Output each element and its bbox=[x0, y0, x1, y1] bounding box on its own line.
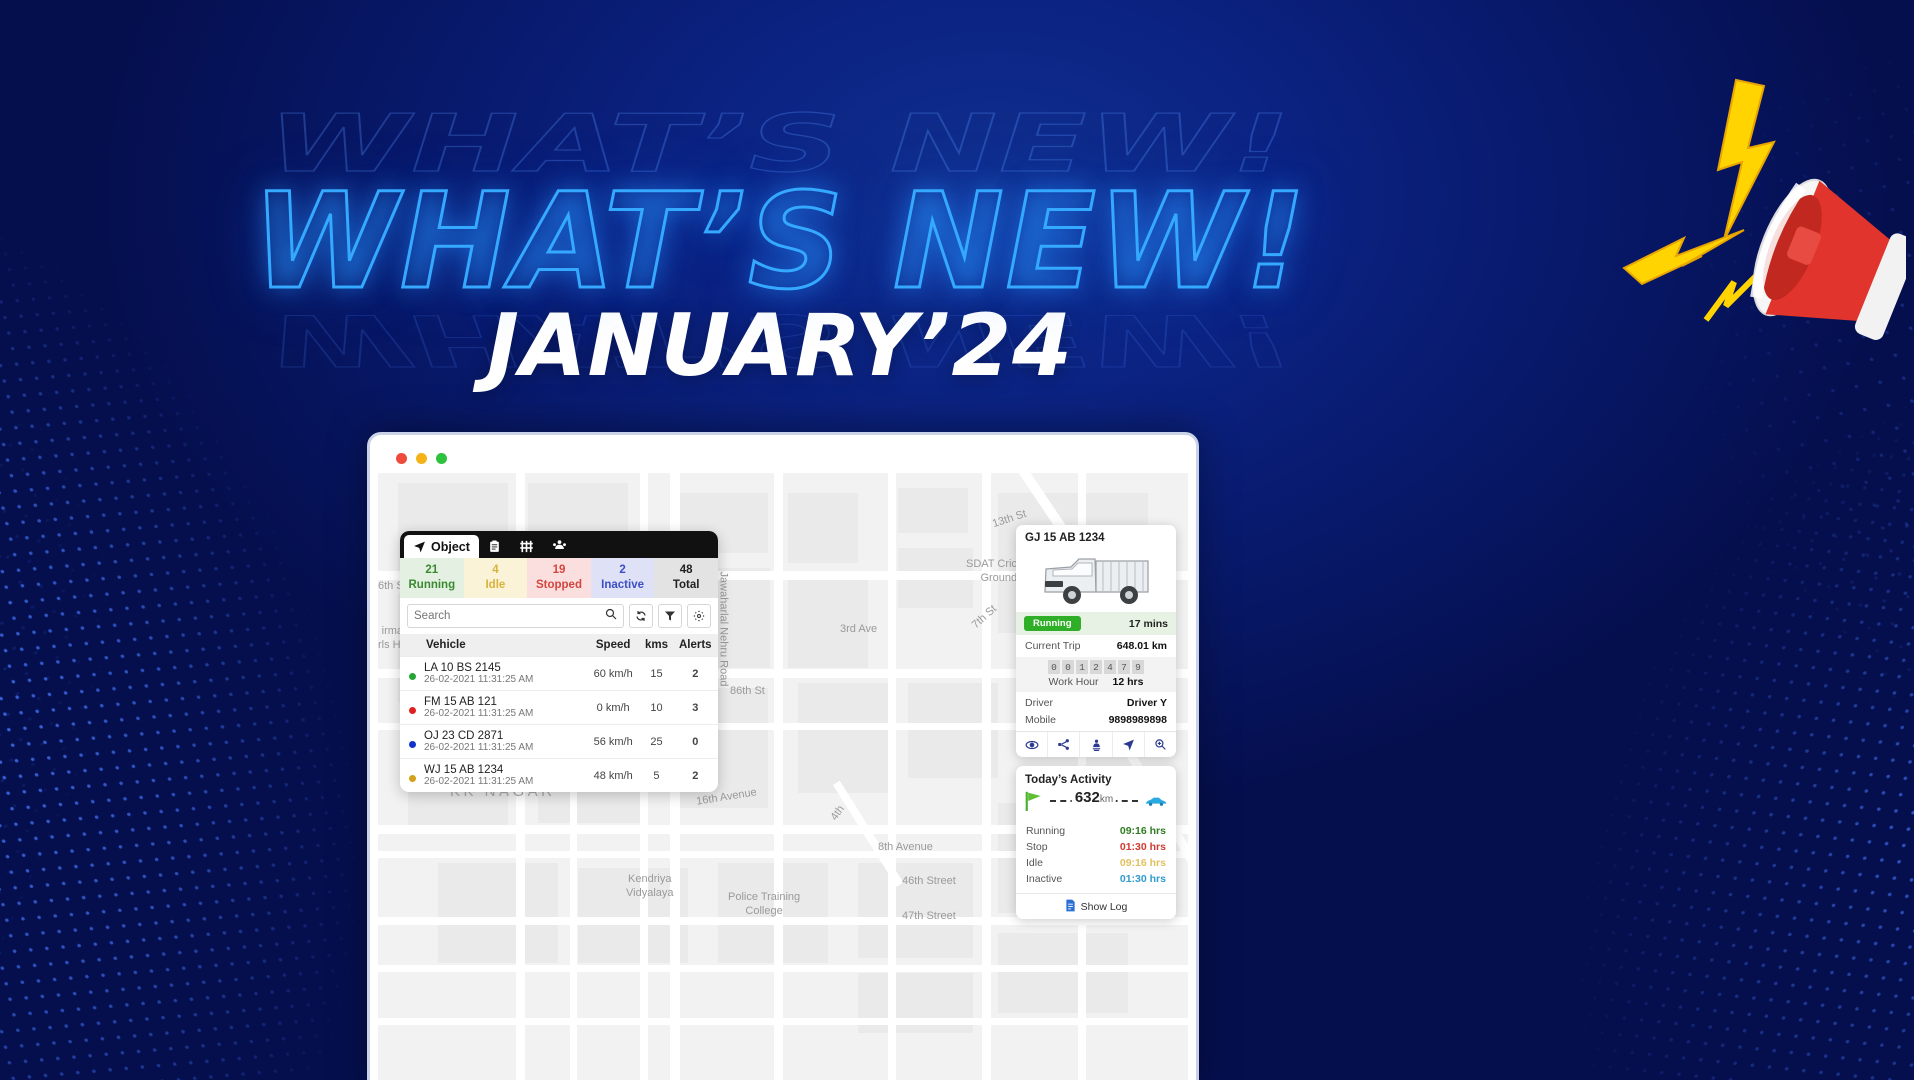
map-label: Police TrainingCollege bbox=[728, 891, 800, 919]
minimize-window-button[interactable] bbox=[416, 453, 427, 464]
todays-activity-card: Today’s Activity 632km bbox=[1016, 766, 1176, 919]
odometer-digit: 7 bbox=[1118, 660, 1130, 674]
clipboard-icon bbox=[488, 539, 501, 554]
tab-geofence[interactable] bbox=[510, 535, 543, 558]
status-label: Running bbox=[408, 579, 455, 591]
zoom-search-icon[interactable] bbox=[1145, 732, 1176, 757]
odometer-digit: 0 bbox=[1062, 660, 1074, 674]
search-box[interactable] bbox=[407, 604, 624, 628]
activity-label: Inactive bbox=[1026, 873, 1062, 885]
vehicle-table-header: VehicleSpeedkmsAlerts bbox=[400, 634, 718, 657]
table-row[interactable]: LA 10 BS 214526-02-2021 11:31:25 AM60 km… bbox=[400, 657, 718, 691]
activity-label: Idle bbox=[1026, 857, 1043, 869]
laptop-frame: 13th StSDAT CricketGround6th Street3rd A… bbox=[367, 432, 1199, 1080]
page-title: WHAT’S NEW! bbox=[0, 176, 1560, 308]
mobile-row: Mobile 9898989898 bbox=[1016, 714, 1176, 731]
vehicle-table-body[interactable]: LA 10 BS 214526-02-2021 11:31:25 AM60 km… bbox=[400, 657, 718, 793]
vehicle-cell: LA 10 BS 214526-02-2021 11:31:25 AM bbox=[400, 657, 586, 691]
navigation-arrow-icon bbox=[413, 540, 426, 553]
settings-gear-icon[interactable] bbox=[687, 604, 711, 628]
status-dot bbox=[409, 707, 416, 714]
status-count: 48 bbox=[654, 563, 718, 578]
status-dot bbox=[409, 741, 416, 748]
status-duration: 17 mins bbox=[1129, 618, 1168, 630]
green-flag-icon bbox=[1024, 790, 1044, 817]
driver-row: Driver Driver Y bbox=[1016, 692, 1176, 714]
vehicle-number: GJ 15 AB 1234 bbox=[1016, 525, 1176, 546]
column-header: Alerts bbox=[673, 634, 718, 657]
kms-cell: 25 bbox=[640, 725, 672, 759]
table-row[interactable]: OJ 23 CD 287126-02-2021 11:31:25 AM56 km… bbox=[400, 725, 718, 759]
people-icon bbox=[552, 539, 567, 554]
alerts-cell: 3 bbox=[673, 691, 718, 725]
vehicle-timestamp: 26-02-2021 11:31:25 AM bbox=[424, 708, 586, 719]
table-row[interactable]: FM 15 AB 12126-02-2021 11:31:25 AM0 km/h… bbox=[400, 691, 718, 725]
status-chip-stopped[interactable]: 19Stopped bbox=[527, 558, 591, 598]
alerts-cell: 2 bbox=[673, 657, 718, 691]
maximize-window-button[interactable] bbox=[436, 453, 447, 464]
truck-photo bbox=[1016, 546, 1176, 612]
status-chip-total[interactable]: 48Total bbox=[654, 558, 718, 598]
vehicle-name: WJ 15 AB 1234 bbox=[424, 764, 586, 776]
show-log-label: Show Log bbox=[1081, 901, 1128, 913]
share-icon[interactable] bbox=[1048, 732, 1080, 757]
activity-row-inactive: Inactive01:30 hrs bbox=[1016, 871, 1176, 887]
activity-label: Running bbox=[1026, 825, 1065, 837]
status-summary-strip[interactable]: 21Running4Idle19Stopped2Inactive48Total bbox=[400, 558, 718, 598]
distance-unit: km bbox=[1100, 794, 1113, 805]
alerts-cell: 2 bbox=[673, 759, 718, 793]
vehicle-summary-card: GJ 15 AB 1234 bbox=[1016, 525, 1176, 757]
map-label: 8th Avenue bbox=[878, 841, 933, 853]
alerts-cell: 0 bbox=[673, 725, 718, 759]
work-hour-row: Work Hour 12 hrs bbox=[1016, 676, 1176, 688]
vehicle-action-row[interactable] bbox=[1016, 731, 1176, 757]
status-dot bbox=[409, 673, 416, 680]
driver-label: Driver bbox=[1025, 697, 1053, 709]
vehicle-detail-panel[interactable]: GJ 15 AB 1234 bbox=[1016, 525, 1176, 928]
activity-value: 01:30 hrs bbox=[1120, 873, 1166, 885]
activity-value: 01:30 hrs bbox=[1120, 841, 1166, 853]
kms-cell: 15 bbox=[640, 657, 672, 691]
show-log-button[interactable]: Show Log bbox=[1016, 893, 1176, 919]
person-pin-icon[interactable] bbox=[1080, 732, 1112, 757]
status-chip-running[interactable]: 21Running bbox=[400, 558, 464, 598]
eye-icon[interactable] bbox=[1016, 732, 1048, 757]
browser-window: 13th StSDAT CricketGround6th Street3rd A… bbox=[378, 443, 1188, 1080]
search-toolbar[interactable] bbox=[400, 598, 718, 634]
speed-cell: 48 km/h bbox=[586, 759, 641, 793]
vehicle-name: OJ 23 CD 2871 bbox=[424, 730, 586, 742]
activity-value: 09:16 hrs bbox=[1120, 857, 1166, 869]
status-count: 2 bbox=[591, 563, 655, 578]
map-canvas[interactable]: 13th StSDAT CricketGround6th Street3rd A… bbox=[378, 473, 1188, 1080]
vehicle-cell: FM 15 AB 12126-02-2021 11:31:25 AM bbox=[400, 691, 586, 725]
tab-drivers[interactable] bbox=[543, 535, 576, 558]
column-header: Speed bbox=[586, 634, 641, 657]
vehicle-name: LA 10 BS 2145 bbox=[424, 662, 586, 674]
megaphone-icon bbox=[1606, 70, 1906, 360]
odometer-digit: 9 bbox=[1132, 660, 1144, 674]
tab-object-label: Object bbox=[431, 540, 470, 554]
current-trip-label: Current Trip bbox=[1025, 640, 1080, 652]
status-count: 4 bbox=[464, 563, 528, 578]
odometer-digit: 4 bbox=[1104, 660, 1116, 674]
search-input[interactable] bbox=[414, 610, 605, 622]
document-icon bbox=[1065, 899, 1076, 915]
odometer-digits: 0012479 bbox=[1016, 660, 1176, 674]
geofence-icon bbox=[519, 539, 534, 554]
tab-object[interactable]: Object bbox=[404, 535, 479, 558]
activity-row-stop: Stop01:30 hrs bbox=[1016, 839, 1176, 855]
poster-canvas: WHAT’S NEW! WHAT’S NEW! WHAT’S NEW! JANU… bbox=[0, 0, 1914, 1080]
status-badge: Running bbox=[1024, 616, 1081, 631]
activity-label: Stop bbox=[1026, 841, 1048, 853]
column-header: Vehicle bbox=[400, 634, 586, 657]
work-hour-label: Work Hour bbox=[1049, 676, 1099, 688]
close-window-button[interactable] bbox=[396, 453, 407, 464]
distance-progress: 632km bbox=[1016, 790, 1176, 823]
vehicle-name: FM 15 AB 121 bbox=[424, 696, 586, 708]
mobile-value: 9898989898 bbox=[1109, 714, 1167, 726]
status-chip-idle[interactable]: 4Idle bbox=[464, 558, 528, 598]
status-count: 21 bbox=[400, 563, 464, 578]
odometer-digit: 1 bbox=[1076, 660, 1088, 674]
status-count: 19 bbox=[527, 563, 591, 578]
map-label: Jawaharlal Nehru Road bbox=[717, 572, 729, 687]
panel-tabbar[interactable]: Object bbox=[400, 531, 718, 558]
map-label: 86th St bbox=[730, 685, 765, 697]
vehicle-timestamp: 26-02-2021 11:31:25 AM bbox=[424, 776, 586, 787]
mobile-label: Mobile bbox=[1025, 714, 1056, 726]
odometer-digit: 2 bbox=[1090, 660, 1102, 674]
current-trip-value: 648.01 km bbox=[1117, 640, 1167, 652]
vehicle-cell: WJ 15 AB 123426-02-2021 11:31:25 AM bbox=[400, 759, 586, 793]
vehicle-timestamp: 26-02-2021 11:31:25 AM bbox=[424, 674, 586, 685]
current-trip-row: Current Trip 648.01 km bbox=[1016, 635, 1176, 657]
status-label: Stopped bbox=[536, 579, 582, 591]
vehicle-timestamp: 26-02-2021 11:31:25 AM bbox=[424, 742, 586, 753]
vehicle-table[interactable]: VehicleSpeedkmsAlerts LA 10 BS 214526-02… bbox=[400, 634, 718, 792]
activity-breakdown: Running09:16 hrsStop01:30 hrsIdle09:16 h… bbox=[1016, 823, 1176, 887]
activity-title: Today’s Activity bbox=[1016, 766, 1176, 790]
status-label: Inactive bbox=[601, 579, 644, 591]
tab-reports[interactable] bbox=[479, 535, 510, 558]
object-list-panel[interactable]: Object bbox=[400, 531, 718, 792]
table-row[interactable]: WJ 15 AB 123426-02-2021 11:31:25 AM48 km… bbox=[400, 759, 718, 793]
map-label: KendriyaVidyalaya bbox=[626, 873, 674, 901]
map-label: 47th Street bbox=[902, 910, 956, 922]
odometer-digit: 0 bbox=[1048, 660, 1060, 674]
status-dot bbox=[409, 775, 416, 782]
status-chip-inactive[interactable]: 2Inactive bbox=[591, 558, 655, 598]
speed-cell: 56 km/h bbox=[586, 725, 641, 759]
map-label: 3rd Ave bbox=[840, 623, 877, 635]
driver-value: Driver Y bbox=[1127, 697, 1167, 709]
refresh-icon[interactable] bbox=[629, 604, 653, 628]
activity-row-idle: Idle09:16 hrs bbox=[1016, 855, 1176, 871]
status-label: Total bbox=[673, 579, 700, 591]
work-hour-value: 12 hrs bbox=[1113, 676, 1144, 688]
window-titlebar bbox=[378, 443, 1188, 473]
speed-cell: 0 km/h bbox=[586, 691, 641, 725]
speed-cell: 60 km/h bbox=[586, 657, 641, 691]
map-label: 4th bbox=[828, 803, 847, 822]
status-label: Idle bbox=[485, 579, 505, 591]
kms-cell: 10 bbox=[640, 691, 672, 725]
blue-car-icon bbox=[1144, 795, 1168, 813]
vehicle-status-row: Running 17 mins bbox=[1016, 612, 1176, 635]
filter-icon[interactable] bbox=[658, 604, 682, 628]
column-header: kms bbox=[640, 634, 672, 657]
activity-row-running: Running09:16 hrs bbox=[1016, 823, 1176, 839]
vehicle-cell: OJ 23 CD 287126-02-2021 11:31:25 AM bbox=[400, 725, 586, 759]
kms-cell: 5 bbox=[640, 759, 672, 793]
search-icon bbox=[605, 607, 617, 625]
odometer-block: 0012479 Work Hour 12 hrs bbox=[1016, 657, 1176, 692]
activity-value: 09:16 hrs bbox=[1120, 825, 1166, 837]
map-label: 46th Street bbox=[902, 875, 956, 887]
navigate-icon[interactable] bbox=[1113, 732, 1145, 757]
distance-value: 632 bbox=[1075, 789, 1100, 806]
